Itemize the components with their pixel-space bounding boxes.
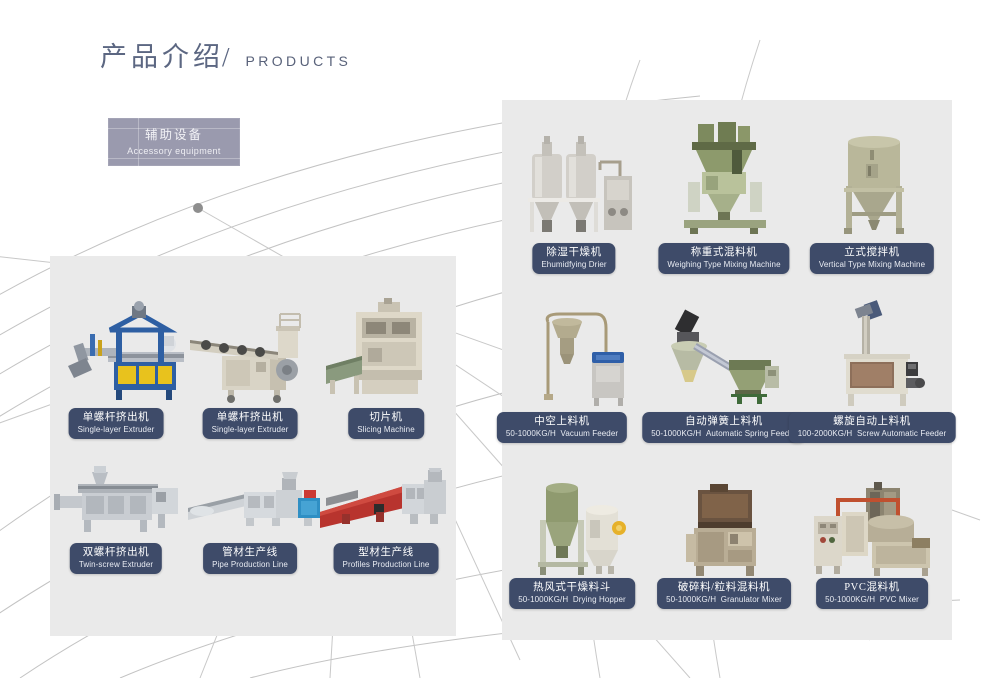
caption-drying-hopper: 热风式干燥料斗 50-1000KG/H Drying Hopper	[509, 578, 635, 609]
product-photo-pipe-production-line	[186, 470, 326, 542]
product-photo-weighing-type-mixing-machine	[672, 120, 776, 236]
caption-en: 50-1000KG/H Automatic Spring Feeder	[651, 429, 796, 439]
caption-vacuum-feeder: 中空上料机 50-1000KG/H Vacuum Feeder	[497, 412, 627, 443]
caption-cn: 单螺杆挤出机	[217, 411, 284, 424]
caption-en: Slicing Machine	[357, 425, 415, 435]
caption-granulator-mixer: 破碎料/粒料混料机 50-1000KG/H Granulator Mixer	[657, 578, 791, 609]
product-photo-vertical-type-mixing-machine	[822, 128, 926, 236]
caption-cn: 破碎料/粒料混料机	[678, 581, 770, 594]
caption-single-layer-extruder-1: 单螺杆挤出机 Single-layer Extruder	[69, 408, 164, 439]
product-photo-automatic-spring-feeder	[665, 306, 783, 406]
caption-en: 50-1000KG/H Vacuum Feeder	[506, 429, 618, 439]
caption-slicing-machine: 切片机 Slicing Machine	[348, 408, 424, 439]
page-title-separator: /	[222, 44, 230, 71]
caption-twin-screw-extruder: 双螺杆挤出机 Twin-screw Extruder	[70, 543, 162, 574]
product-photo-slicing-machine	[322, 296, 440, 404]
caption-automatic-spring-feeder: 自动弹簧上料机 50-1000KG/H Automatic Spring Fee…	[642, 412, 805, 443]
caption-cn: 除湿干燥机	[546, 246, 602, 259]
caption-cn: 螺旋自动上料机	[833, 415, 911, 428]
caption-en: Profiles Production Line	[343, 560, 430, 570]
caption-en: 50-1000KG/H Granulator Mixer	[666, 595, 782, 605]
caption-profiles-production-line: 型材生产线 Profiles Production Line	[334, 543, 439, 574]
caption-pvc-mixer: PVC混料机 50-1000KG/H PVC Mixer	[816, 578, 928, 609]
caption-en: 100-2000KG/H Screw Automatic Feeder	[798, 429, 947, 439]
page-title: 产品介绍 / PRODUCTS	[100, 44, 351, 71]
product-photo-pvc-mixer	[812, 482, 942, 578]
product-photo-single-layer-extruder-2	[182, 300, 312, 404]
product-photo-drying-hopper	[520, 476, 636, 576]
product-photo-single-layer-extruder-1	[62, 300, 190, 404]
accessory-badge-label-en: Accessory equipment	[127, 146, 221, 156]
caption-screw-automatic-feeder: 螺旋自动上料机 100-2000KG/H Screw Automatic Fee…	[789, 412, 956, 443]
product-photo-twin-screw-extruder	[52, 462, 188, 540]
catalog-page: 产品介绍 / PRODUCTS 辅助设备 Accessory equipment	[0, 0, 1000, 678]
caption-en: Twin-screw Extruder	[79, 560, 153, 570]
caption-en: 50-1000KG/H PVC Mixer	[825, 595, 919, 605]
caption-en: Pipe Production Line	[212, 560, 288, 570]
accessory-equipment-badge: 辅助设备 Accessory equipment	[108, 118, 240, 166]
caption-dehumidifying-drier: 除湿干燥机 Ehumidfying Drier	[532, 243, 615, 274]
page-title-cn: 产品介绍	[100, 44, 224, 71]
caption-en: Weighing Type Mixing Machine	[667, 260, 780, 270]
caption-cn: 立式搅拌机	[844, 246, 900, 259]
product-photo-profiles-production-line	[318, 468, 450, 542]
caption-pipe-production-line: 管材生产线 Pipe Production Line	[203, 543, 297, 574]
caption-en: Single-layer Extruder	[78, 425, 155, 435]
caption-cn: 管材生产线	[222, 546, 278, 559]
caption-en: Vertical Type Mixing Machine	[819, 260, 925, 270]
caption-vertical-type-mixing-machine: 立式搅拌机 Vertical Type Mixing Machine	[810, 243, 934, 274]
accessory-badge-label-cn: 辅助设备	[145, 128, 203, 143]
caption-cn: 中空上料机	[534, 415, 590, 428]
caption-cn: PVC混料机	[844, 581, 900, 594]
caption-cn: 自动弹簧上料机	[685, 415, 763, 428]
caption-en: Single-layer Extruder	[212, 425, 289, 435]
product-photo-granulator-mixer	[680, 482, 776, 578]
decorative-dot	[193, 203, 203, 213]
caption-cn: 热风式干燥料斗	[533, 581, 611, 594]
product-photo-dehumidifying-drier	[524, 132, 636, 236]
caption-cn: 切片机	[369, 411, 402, 424]
caption-cn: 双螺杆挤出机	[83, 546, 150, 559]
caption-cn: 型材生产线	[358, 546, 414, 559]
caption-cn: 称重式混料机	[691, 246, 758, 259]
product-photo-vacuum-feeder	[522, 306, 634, 406]
caption-en: 50-1000KG/H Drying Hopper	[518, 595, 626, 605]
caption-weighing-type-mixing-machine: 称重式混料机 Weighing Type Mixing Machine	[658, 243, 789, 274]
product-photo-screw-automatic-feeder	[826, 296, 934, 408]
caption-single-layer-extruder-2: 单螺杆挤出机 Single-layer Extruder	[203, 408, 298, 439]
caption-cn: 单螺杆挤出机	[83, 411, 150, 424]
page-title-en: PRODUCTS	[246, 53, 352, 69]
caption-en: Ehumidfying Drier	[541, 260, 606, 270]
